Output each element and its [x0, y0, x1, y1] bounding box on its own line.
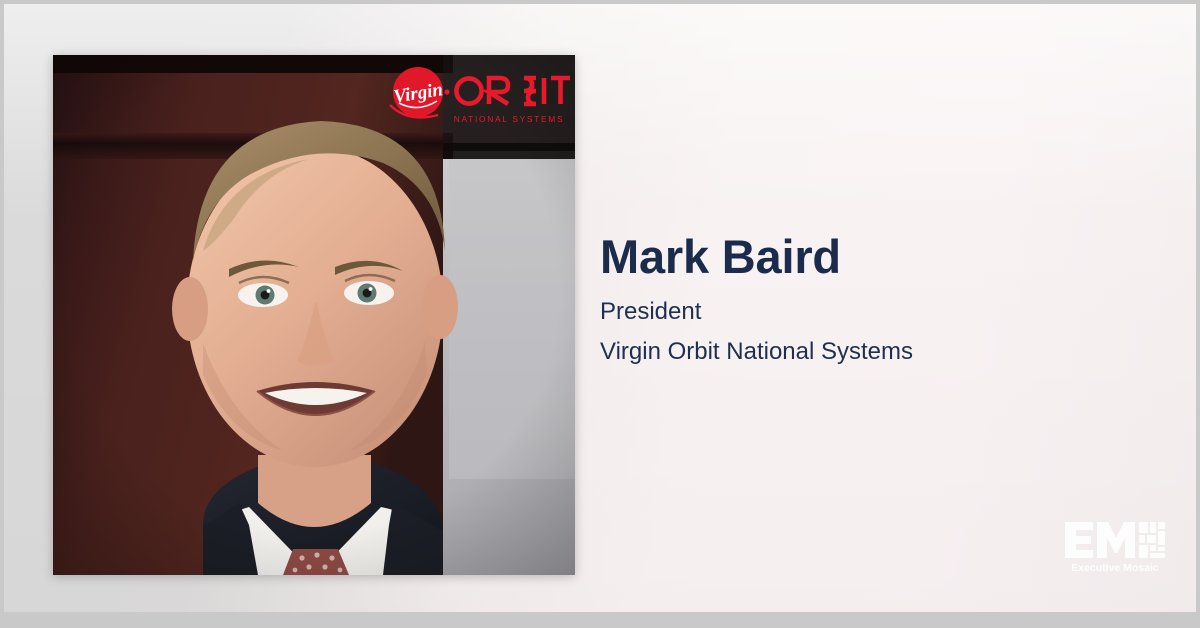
card-bottom-edge	[4, 612, 1196, 620]
executive-mosaic-logo: Executive Mosaic	[1059, 516, 1171, 574]
person-name: Mark Baird	[600, 232, 1120, 282]
card-inner-panel: Virgin	[4, 4, 1196, 620]
person-photo: Virgin	[53, 55, 575, 575]
person-info: Mark Baird President Virgin Orbit Nation…	[600, 232, 1120, 366]
executive-mosaic-label: Executive Mosaic	[1071, 562, 1159, 574]
person-title: President	[600, 298, 1120, 326]
virgin-orbit-logo: Virgin	[386, 61, 572, 133]
virgin-orbit-tagline: NATIONAL SYSTEMS	[454, 114, 565, 124]
profile-card: Virgin	[0, 0, 1200, 628]
person-organization: Virgin Orbit National Systems	[600, 338, 1120, 366]
